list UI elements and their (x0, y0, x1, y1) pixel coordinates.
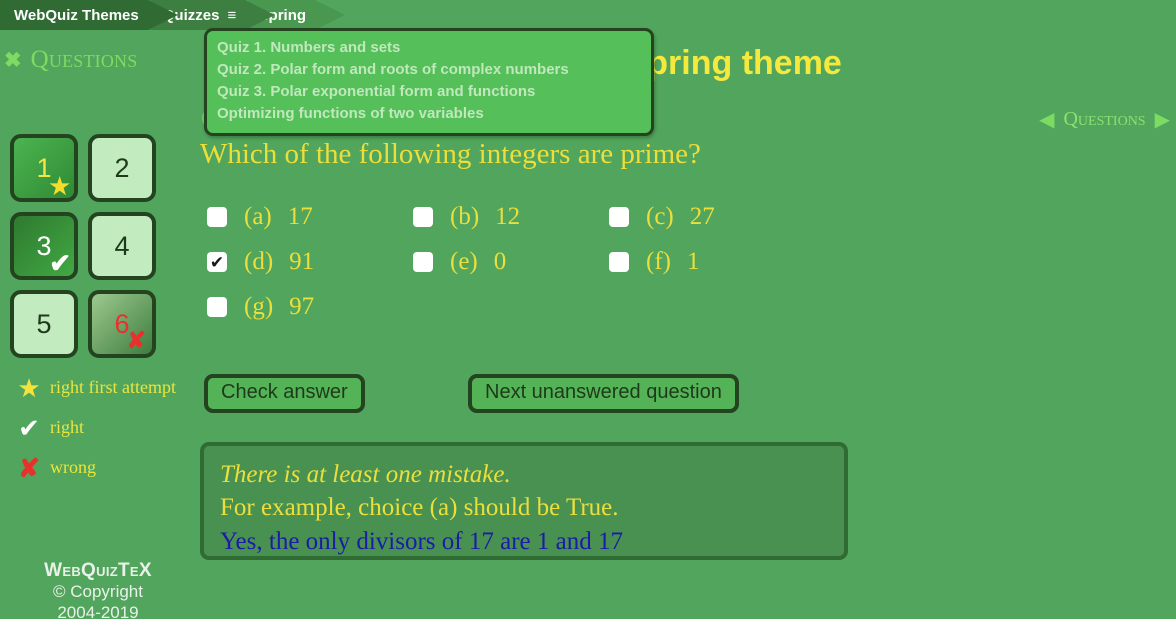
choice-checkbox[interactable]: ✔ (207, 252, 227, 272)
legend-item-wrong: ✘ wrong (8, 455, 188, 481)
question-button-4[interactable]: 4 (88, 212, 156, 280)
star-icon: ★ (49, 175, 70, 198)
breadcrumb-tip (315, 0, 345, 30)
legend-label: wrong (50, 455, 96, 478)
choice-e[interactable]: (e) 0 (413, 248, 609, 276)
feedback-summary: There is at least one mistake. (220, 458, 828, 491)
legend-label: right (50, 415, 84, 438)
feedback-example: For example, choice (a) should be True. (220, 491, 828, 525)
choice-d[interactable]: ✔ (d) 91 (207, 248, 413, 276)
question-button-3[interactable]: 3 ✔ (10, 212, 78, 280)
choice-label: (e) (450, 248, 478, 276)
choice-label: (f) (646, 248, 671, 276)
feedback-panel: There is at least one mistake. For examp… (200, 442, 848, 560)
choice-value: 17 (288, 203, 313, 231)
choice-label: (c) (646, 203, 674, 231)
dropdown-item-quiz-1[interactable]: Quiz 1. Numbers and sets (217, 37, 643, 59)
prev-question-icon[interactable]: ◀ (1039, 110, 1054, 130)
choice-list: (a) 17 (b) 12 (c) 27 ✔ (d) 91 (e) 0 (f) … (207, 203, 827, 321)
copyright-text: © Copyright (0, 581, 196, 602)
question-text: Which of the following integers are prim… (200, 138, 701, 171)
check-answer-button[interactable]: Check answer (204, 374, 365, 413)
choice-checkbox[interactable] (609, 252, 629, 272)
cross-icon: ✘ (8, 455, 50, 481)
choice-f[interactable]: (f) 1 (609, 248, 809, 276)
choice-label: (a) (244, 203, 272, 231)
question-button-grid: 1 ★ 2 3 ✔ 4 5 6 ✘ (10, 134, 166, 358)
feedback-explanation: Yes, the only divisors of 17 are 1 and 1… (220, 525, 828, 559)
cross-icon: ✘ (127, 329, 146, 352)
sidebar-header: ✖ Questions (4, 46, 137, 74)
choice-checkbox[interactable] (609, 207, 629, 227)
breadcrumb: WebQuiz Themes Quizzes ≡ spring (0, 0, 1176, 30)
choice-label: (g) (244, 293, 273, 321)
choice-value: 0 (494, 248, 507, 276)
next-unanswered-question-button[interactable]: Next unanswered question (468, 374, 739, 413)
question-button-6[interactable]: 6 ✘ (88, 290, 156, 358)
sidebar-heading: Questions (31, 46, 138, 74)
choice-value: 27 (690, 203, 715, 231)
breadcrumb-tip (245, 0, 275, 30)
dropdown-item-quiz-3[interactable]: Quiz 3. Polar exponential form and funct… (217, 81, 643, 103)
breadcrumb-tip (148, 0, 178, 30)
star-icon: ★ (8, 375, 50, 401)
choice-checkbox[interactable] (207, 297, 227, 317)
next-question-icon[interactable]: ▶ (1155, 110, 1170, 130)
choice-label: (d) (244, 248, 273, 276)
breadcrumb-label: WebQuiz Themes (14, 7, 139, 24)
choice-b[interactable]: (b) 12 (413, 203, 609, 231)
legend-label: right first attempt (50, 375, 176, 398)
choice-value: 1 (687, 248, 700, 276)
choice-label: (b) (450, 203, 479, 231)
dropdown-item-quiz-2[interactable]: Quiz 2. Polar form and roots of complex … (217, 59, 643, 81)
breadcrumb-filler (316, 0, 1176, 30)
question-button-2[interactable]: 2 (88, 134, 156, 202)
copyright-footer: WebQuizTeX © Copyright 2004-2019 (0, 560, 196, 619)
copyright-years: 2004-2019 (0, 602, 196, 619)
quiz-page: WebQuiz Themes Quizzes ≡ spring e spring… (0, 0, 1176, 619)
choice-value: 91 (289, 248, 314, 276)
choice-checkbox[interactable] (413, 252, 433, 272)
question-button-number: 4 (114, 231, 129, 262)
hamburger-icon[interactable]: ≡ (227, 7, 236, 24)
question-button-1[interactable]: 1 ★ (10, 134, 78, 202)
question-button-number: 5 (36, 309, 51, 340)
question-nav: ◀ Questions ▶ (1039, 108, 1170, 131)
question-button-number: 2 (114, 153, 129, 184)
choice-g[interactable]: (g) 97 (207, 293, 413, 321)
close-icon[interactable]: ✖ (4, 50, 22, 71)
dropdown-item-optimizing[interactable]: Optimizing functions of two variables (217, 103, 643, 125)
product-name: WebQuizTeX (0, 560, 196, 581)
choice-c[interactable]: (c) 27 (609, 203, 809, 231)
choice-a[interactable]: (a) 17 (207, 203, 413, 231)
legend-item-first-attempt: ★ right first attempt (8, 375, 188, 401)
question-nav-label: Questions (1063, 108, 1145, 131)
check-icon: ✔ (8, 415, 50, 441)
quizzes-dropdown-menu[interactable]: Quiz 1. Numbers and sets Quiz 2. Polar f… (204, 28, 654, 136)
choice-value: 97 (289, 293, 314, 321)
choice-value: 12 (495, 203, 520, 231)
breadcrumb-item-themes[interactable]: WebQuiz Themes (0, 0, 149, 30)
legend-item-right: ✔ right (8, 415, 188, 441)
choice-checkbox[interactable] (207, 207, 227, 227)
check-icon: ✔ (49, 250, 71, 276)
choice-checkbox[interactable] (413, 207, 433, 227)
question-button-5[interactable]: 5 (10, 290, 78, 358)
legend: ★ right first attempt ✔ right ✘ wrong (8, 375, 188, 495)
